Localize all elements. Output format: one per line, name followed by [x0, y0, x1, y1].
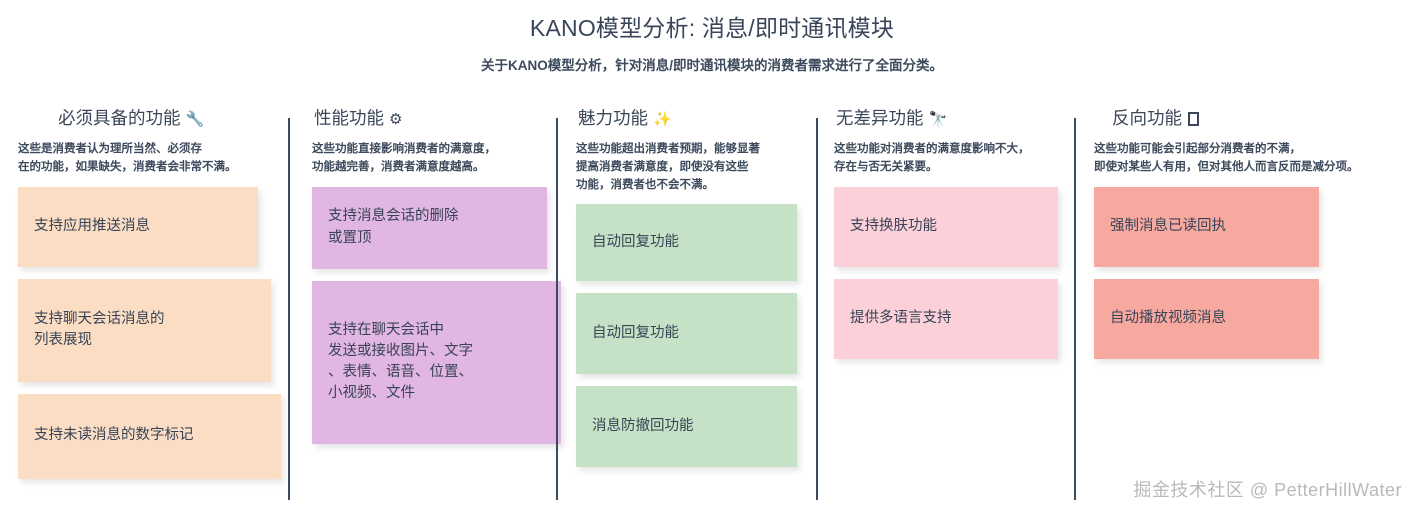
column-description: 这些是消费者认为理所当然、必须存 在的功能，如果缺失，消费者会非常不满。	[18, 141, 290, 177]
card-list: 强制消息已读回执自动播放视频消息	[1094, 187, 1424, 359]
page-subtitle: 关于KANO模型分析，针对消息/即时通讯模块的消费者需求进行了全面分类。	[0, 57, 1424, 75]
feature-card[interactable]: 自动回复功能	[576, 293, 797, 374]
column-description: 这些功能可能会引起部分消费者的不满， 即使对某些人有用，但对其他人而言反而是减分…	[1094, 141, 1424, 177]
card-list: 支持消息会话的删除 或置顶支持在聊天会话中 发送或接收图片、文字 、表情、语音、…	[312, 187, 558, 444]
feature-card[interactable]: 自动回复功能	[576, 204, 797, 281]
column-title: 必须具备的功能	[58, 108, 181, 128]
column-header: 反向功能	[1094, 108, 1424, 130]
feature-card[interactable]: 支持应用推送消息	[18, 187, 258, 267]
column-description: 这些功能直接影响消费者的满意度， 功能越完善，消费者满意度越高。	[312, 141, 558, 177]
feature-card[interactable]: 支持未读消息的数字标记	[18, 394, 281, 479]
column-header: 无差异功能🔭	[834, 108, 1076, 130]
column-header: 魅力功能✨	[576, 108, 818, 130]
binoculars-icon: 🔭	[929, 111, 948, 130]
feature-card[interactable]: 支持消息会话的删除 或置顶	[312, 187, 547, 269]
card-list: 自动回复功能自动回复功能消息防撤回功能	[576, 204, 818, 467]
feature-card[interactable]: 自动播放视频消息	[1094, 279, 1319, 359]
column-title: 魅力功能	[578, 108, 648, 128]
kano-column: 魅力功能✨这些功能超出消费者预期，能够显著 提高消费者满意度，即使没有这些 功能…	[558, 108, 818, 520]
feature-card[interactable]: 消息防撤回功能	[576, 386, 797, 467]
page-title: KANO模型分析: 消息/即时通讯模块	[0, 14, 1424, 44]
feature-card[interactable]: 强制消息已读回执	[1094, 187, 1319, 267]
column-description: 这些功能对消费者的满意度影响不大， 存在与否无关紧要。	[834, 141, 1076, 177]
column-header: 性能功能⚙	[312, 108, 558, 130]
feature-card[interactable]: 支持聊天会话消息的 列表展现	[18, 279, 271, 382]
feature-card[interactable]: 提供多语言支持	[834, 279, 1058, 359]
feature-card[interactable]: 支持换肤功能	[834, 187, 1058, 267]
watermark: 掘金技术社区 @ PetterHillWater	[1133, 476, 1402, 502]
column-title: 性能功能	[314, 108, 384, 128]
column-title: 反向功能	[1112, 108, 1182, 128]
tofu-box-icon	[1188, 112, 1199, 126]
card-list: 支持应用推送消息支持聊天会话消息的 列表展现支持未读消息的数字标记	[18, 187, 290, 479]
gear-icon: ⚙	[389, 111, 402, 130]
page-header: KANO模型分析: 消息/即时通讯模块 关于KANO模型分析，针对消息/即时通讯…	[0, 0, 1424, 74]
wrench-icon: 🔧	[186, 111, 205, 130]
sparkles-icon: ✨	[653, 111, 672, 130]
kano-column: 反向功能这些功能可能会引起部分消费者的不满， 即使对某些人有用，但对其他人而言反…	[1076, 108, 1424, 520]
column-description: 这些功能超出消费者预期，能够显著 提高消费者满意度，即使没有这些 功能，消费者也…	[576, 141, 818, 194]
column-header: 必须具备的功能🔧	[18, 108, 290, 130]
kano-column: 性能功能⚙这些功能直接影响消费者的满意度， 功能越完善，消费者满意度越高。支持消…	[290, 108, 558, 520]
column-title: 无差异功能	[836, 108, 924, 128]
kano-column: 无差异功能🔭这些功能对消费者的满意度影响不大， 存在与否无关紧要。支持换肤功能提…	[818, 108, 1076, 520]
feature-card[interactable]: 支持在聊天会话中 发送或接收图片、文字 、表情、语音、位置、 小视频、文件	[312, 281, 561, 444]
kano-board: 必须具备的功能🔧这些是消费者认为理所当然、必须存 在的功能，如果缺失，消费者会非…	[0, 108, 1424, 520]
kano-column: 必须具备的功能🔧这些是消费者认为理所当然、必须存 在的功能，如果缺失，消费者会非…	[0, 108, 290, 520]
card-list: 支持换肤功能提供多语言支持	[834, 187, 1076, 359]
